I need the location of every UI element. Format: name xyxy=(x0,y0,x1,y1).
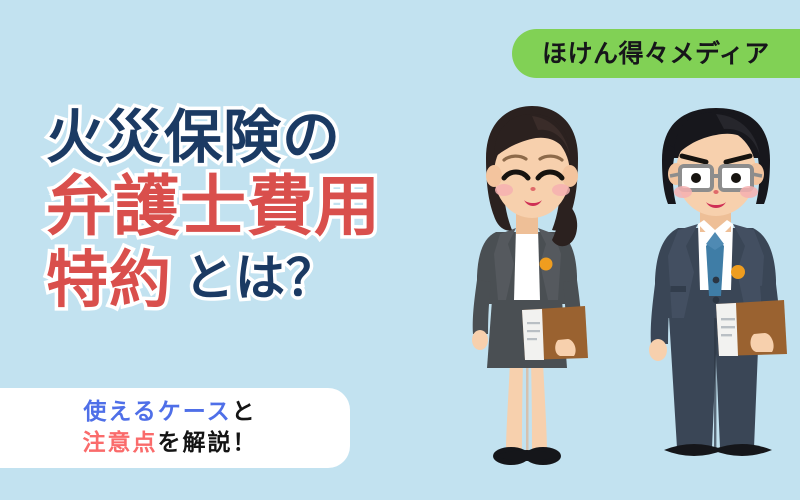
headline-line-1: 火災保険の xyxy=(46,108,476,167)
subheading-panel: 使えるケースと 注意点を解説！ xyxy=(0,388,350,468)
headline-line-3-rest: とは？ xyxy=(184,253,337,304)
headline-line-2-text: 弁護士費用 xyxy=(46,173,381,240)
subheading-line-1-black: と xyxy=(232,399,257,425)
headline-block: 火災保険の 弁護士費用 特約とは？ xyxy=(46,108,476,314)
brand-badge-label: ほけん得々メディア xyxy=(542,41,770,66)
subheading-line-2-red: 注意点 xyxy=(83,430,158,456)
subheading-line-1: 使えるケースと xyxy=(83,397,256,428)
headline-line-3: 特約とは？ xyxy=(46,248,476,311)
headline-line-1-text: 火災保険の xyxy=(46,108,341,167)
male-lawyer-illustration xyxy=(628,104,800,470)
thumbnail-canvas: ほけん得々メディア 火災保険の 弁護士費用 特約とは？ 使えるケースと 注意点を… xyxy=(0,0,800,500)
subheading-line-2-black: を解説！ xyxy=(158,430,258,456)
headline-line-2: 弁護士費用 xyxy=(46,173,476,240)
brand-badge: ほけん得々メディア xyxy=(512,29,800,78)
female-lawyer-illustration xyxy=(448,104,618,470)
subheading-line-2: 注意点を解説！ xyxy=(83,428,258,459)
subheading-line-1-blue: 使えるケース xyxy=(83,399,231,425)
headline-line-3-highlight: 特約 xyxy=(46,248,172,311)
